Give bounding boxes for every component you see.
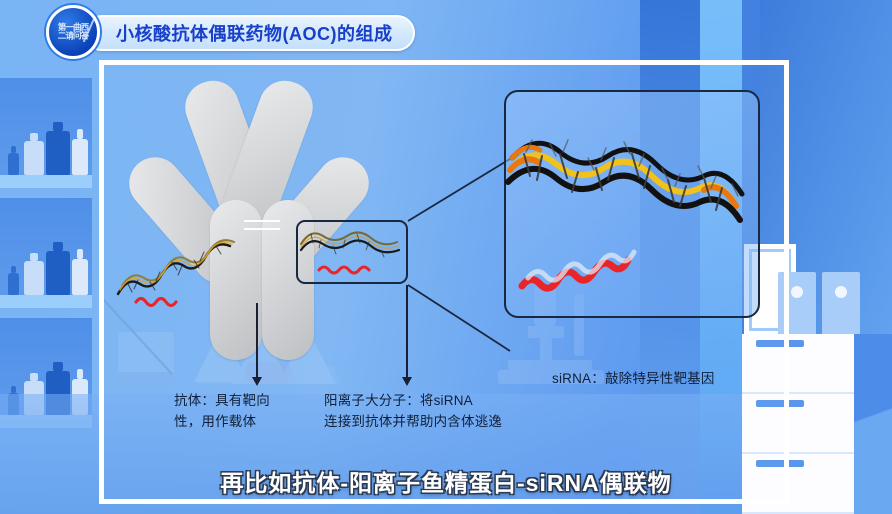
binder-2 — [822, 272, 860, 334]
diagram-canvas: 抗体：具有靶向 性，用作载体 阳离子大分子：将siRNA 连接到抗体并帮助内含体… — [104, 65, 784, 499]
callout-arrow-line-cationic — [406, 285, 408, 379]
screenshot-root: 第一曲西 二请问答 小核酸抗体偶联药物(AOC)的组成 — [0, 0, 892, 514]
callout-arrow-head-cationic — [402, 377, 412, 386]
callout-arrow-line-antibody — [256, 303, 258, 379]
sirna-molecular-model-left — [112, 228, 242, 308]
callout-arrow-head-antibody — [252, 377, 262, 386]
sirna-molecular-model-magnified — [498, 110, 768, 310]
page-title: 小核酸抗体偶联药物(AOC)的组成 — [116, 20, 393, 46]
shelf-row-1 — [0, 78, 92, 188]
antibody-hinge-line-2 — [244, 228, 280, 230]
antibody-hinge-line-1 — [244, 220, 280, 222]
logo-mark-bottom: 二请问答 — [58, 32, 88, 41]
callout-text-cationic: 阳离子大分子：将siRNA 连接到抗体并帮助内含体逃逸 — [324, 390, 594, 432]
background-binders — [778, 272, 864, 334]
shelf-row-2 — [0, 198, 92, 308]
diagram-panel: 抗体：具有靶向 性，用作载体 阳离子大分子：将siRNA 连接到抗体并帮助内含体… — [99, 60, 789, 504]
page-title-pill: 小核酸抗体偶联药物(AOC)的组成 — [84, 15, 415, 51]
callout-text-sirna: siRNA：敲除特异性靶基因 — [552, 368, 789, 389]
subtitle-caption: 再比如抗体-阳离子鱼精蛋白-siRNA偶联物 — [0, 464, 892, 498]
sirna-molecular-model-source — [297, 222, 407, 282]
header-bar: 第一曲西 二请问答 小核酸抗体偶联药物(AOC)的组成 — [46, 14, 415, 52]
callout-text-antibody: 抗体：具有靶向 性，用作载体 — [174, 390, 324, 432]
brand-logo-icon: 第一曲西 二请问答 — [46, 5, 100, 59]
